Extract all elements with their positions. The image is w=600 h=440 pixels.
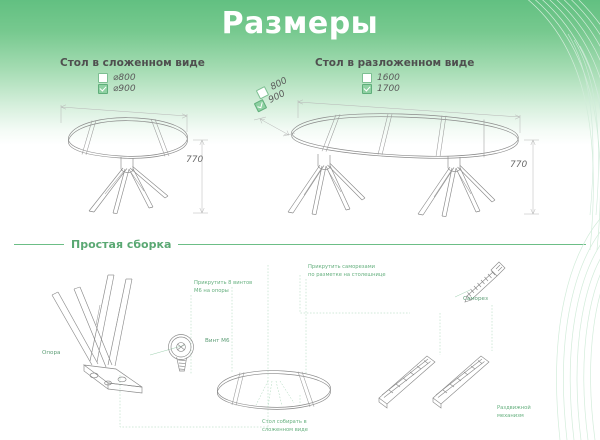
infographic-page: Размеры Стол в сложенном виде ⌀800 ⌀900	[0, 0, 600, 440]
divider-line-left	[14, 244, 64, 245]
checkbox-folded-900[interactable]	[98, 84, 108, 94]
assembly-heading: Простая сборка	[71, 238, 171, 251]
extension-mechanism-drawing	[375, 340, 505, 410]
label-bolt-m6: Винт М6	[205, 338, 230, 344]
option-folded-800-label: ⌀800	[113, 73, 136, 83]
note-fold-state: Стол собирать в сложенном виде	[262, 419, 308, 434]
option-folded-900-label: ⌀900	[113, 84, 136, 94]
unfolded-height-dim: 770	[510, 160, 527, 170]
bolt-m6-drawing	[163, 330, 207, 374]
checkbox-length-1600[interactable]	[362, 73, 372, 83]
note-screws: Прикрутить саморезами по разметке на сто…	[308, 264, 386, 279]
label-screw: Саморез	[463, 296, 488, 302]
assembly-divider: Простая сборка	[14, 238, 586, 251]
folded-height-dim: 770	[186, 155, 203, 165]
note-bolts: Прикрутить 8 винтов М6 на опоры	[194, 280, 252, 295]
option-folded-900[interactable]: ⌀900	[98, 84, 136, 94]
option-length-1600[interactable]: 1600	[362, 73, 400, 83]
label-extension-mechanism: Раздвижной механизм	[497, 405, 531, 420]
option-length-1600-label: 1600	[377, 73, 400, 83]
heading-folded-table: Стол в сложенном виде	[60, 57, 205, 69]
tabletop-drawing	[210, 365, 340, 425]
option-folded-800[interactable]: ⌀800	[98, 73, 136, 83]
label-support: Опора	[42, 350, 60, 356]
unfolded-table-drawing	[252, 88, 552, 223]
heading-unfolded-table: Стол в разложенном виде	[315, 57, 474, 69]
checkbox-folded-800[interactable]	[98, 73, 108, 83]
page-title: Размеры	[0, 6, 600, 41]
divider-line-right	[178, 244, 586, 245]
